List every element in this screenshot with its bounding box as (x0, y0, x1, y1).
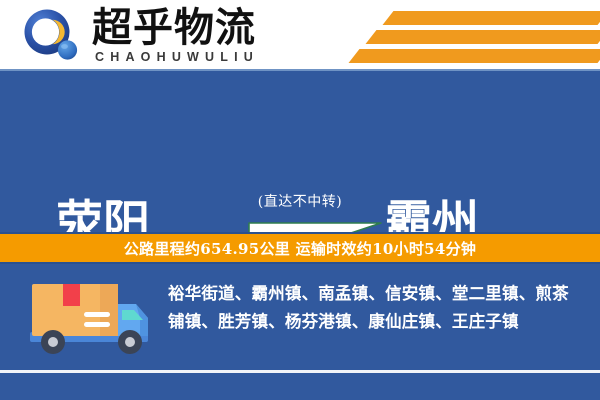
route-stats-text: 公路里程约654.95公里 运输时效约10小时54分钟 (124, 238, 476, 259)
delivery-truck-icon (24, 274, 154, 360)
direct-service-note: (直达不中转) (0, 191, 600, 211)
coverage-areas-text: 裕华街道、霸州镇、南孟镇、信安镇、堂二里镇、煎茶铺镇、胜芳镇、杨芬港镇、康仙庄镇… (168, 280, 582, 336)
speed-stripe-bottom (349, 49, 600, 63)
brand-name: 超乎物流 (92, 6, 256, 50)
brand-pinyin: CHAOHUWULIU (95, 50, 259, 64)
header-bar: 超乎物流 CHAOHUWULIU (0, 0, 600, 71)
route-stats-bar: 公路里程约654.95公里 运输时效约10小时54分钟 (0, 232, 600, 264)
speed-stripe-top (383, 11, 600, 25)
route-section: 荥阳 (直达不中转) 【往返运输】 霸州 (0, 71, 600, 231)
footer-strip (0, 373, 600, 400)
logistics-route-banner: 超乎物流 CHAOHUWULIU 荥阳 (直达不中转) 【往返运输】 霸州 公路… (0, 0, 600, 400)
speed-stripe-middle (366, 30, 600, 44)
crescent-circle-logo-icon (22, 8, 80, 64)
coverage-section: 裕华街道、霸州镇、南孟镇、信安镇、堂二里镇、煎茶铺镇、胜芳镇、杨芬港镇、康仙庄镇… (0, 264, 600, 370)
